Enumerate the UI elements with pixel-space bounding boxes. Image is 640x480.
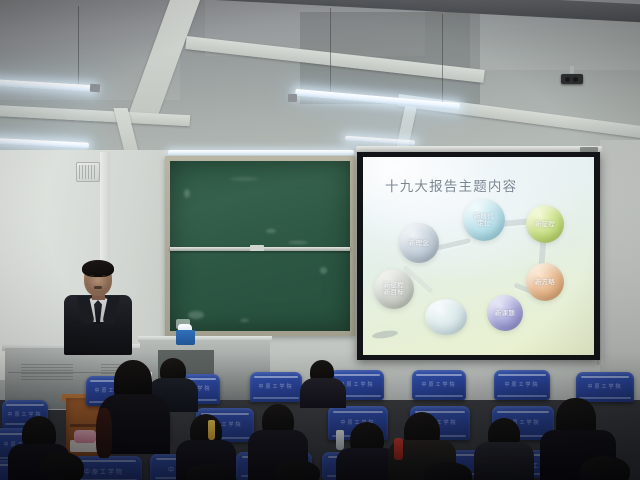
projection-screen: 十九大报告主题内容 新理念 新时代 定位 新征程 新方略 新课题: [363, 157, 594, 355]
seat[interactable]: 中原工学院: [412, 370, 466, 400]
seat[interactable]: 中原工学院: [576, 372, 634, 402]
chalk-piece: [250, 245, 264, 251]
presenter-hair: [82, 260, 114, 277]
audience-seating: 中原工学院 中原工学院 中原工学院 中原工学院 中原工学院 中原工学院 中原工学…: [0, 356, 640, 480]
presenter-eye: [102, 275, 106, 277]
bubble-label: 新征程: [534, 221, 556, 228]
seat-logo: 中原工学院: [494, 381, 550, 388]
drink-bottle: [208, 420, 215, 440]
presenter-mouth: [94, 286, 102, 289]
lecture-hall-photo: 十九大报告主题内容 新理念 新时代 定位 新征程 新方略 新课题: [0, 0, 640, 480]
light-suspension-wire: [78, 6, 79, 84]
bubble-label: 新方略: [534, 279, 556, 286]
blackboard-light: [168, 150, 354, 155]
student-head: [580, 456, 630, 480]
slide-bubble-new-idea: 新理念: [399, 223, 439, 263]
ceiling-light-tube: [0, 137, 89, 148]
slide-bubble-new-strategy: 新方略: [526, 263, 564, 301]
seat-logo: 中原工学院: [250, 383, 302, 390]
seat[interactable]: 中原工学院: [494, 370, 550, 400]
bubble-label: 新理念: [408, 240, 430, 247]
seat[interactable]: 中原工学院: [250, 372, 302, 402]
light-suspension-wire: [330, 8, 331, 96]
blackboard-frame: [165, 156, 355, 336]
blackboard: [170, 161, 350, 331]
drink-bottle: [394, 438, 403, 460]
slide-bubble-new-topic: 新课题: [487, 295, 523, 331]
slide-title: 十九大报告主题内容: [385, 175, 517, 195]
seat-logo: 中原工学院: [412, 381, 466, 388]
student-body: [300, 378, 346, 408]
wall-speaker-icon: [76, 162, 100, 182]
projection-screen-frame: 十九大报告主题内容 新理念 新时代 定位 新征程 新方略 新课题: [357, 152, 600, 360]
student-hair-strand: [96, 408, 112, 458]
light-suspension-wire: [442, 14, 443, 106]
right-wall: [600, 140, 640, 380]
ceiling-beam: [0, 105, 190, 126]
ceiling-light-cap: [90, 84, 100, 93]
presenter: [62, 262, 134, 354]
ceiling-light-cap: [288, 94, 297, 102]
student-head: [40, 452, 84, 480]
drink-bottle: [336, 430, 344, 450]
ceiling: [0, 0, 640, 160]
bubble-label: 新征程 新目标: [383, 282, 405, 295]
bubble-label: 新课题: [494, 310, 516, 317]
student-body: [474, 442, 534, 480]
projector-icon: [561, 74, 583, 84]
slide-bubble-blank: [425, 299, 467, 335]
slide-bubble-new-era: 新时代 定位: [463, 199, 505, 241]
seat-logo: 中原工学院: [576, 383, 634, 390]
tissue-box: [176, 330, 195, 345]
slide-decor-dash: [372, 329, 399, 340]
presenter-eye: [90, 275, 94, 277]
bubble-label: 新时代 定位: [473, 213, 495, 226]
student-head: [274, 460, 320, 480]
slide-bubble-new-spirit: 新征程: [526, 205, 564, 243]
slide-bubble-new-journey: 新征程 新目标: [374, 269, 414, 309]
